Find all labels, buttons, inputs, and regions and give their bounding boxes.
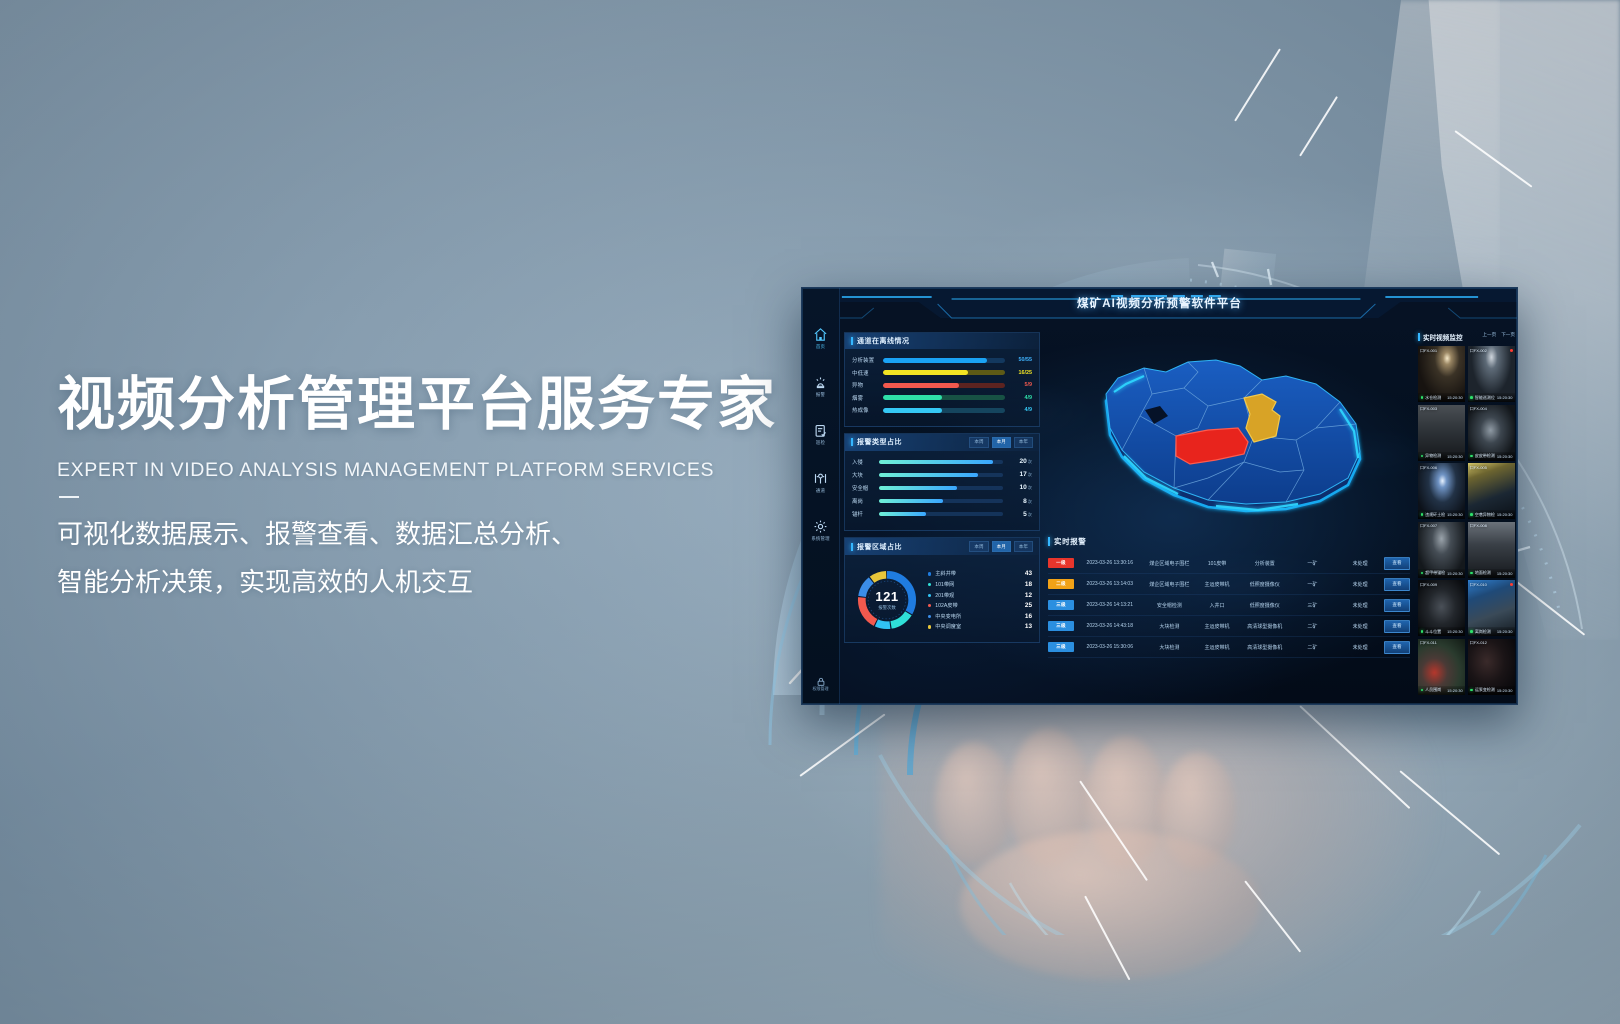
camera-id: 口FX-006 — [1420, 465, 1437, 471]
realtime-alarm-header: 实时报警 — [1048, 536, 1410, 547]
alarm-type-value: 20次 — [1008, 458, 1032, 465]
video-cell[interactable]: 口FX-006违规矸土检测15:20:30 — [1418, 463, 1465, 519]
channel-progress-track — [883, 408, 1005, 413]
channel-progress-fill — [883, 395, 942, 400]
camera-id: 口FX-008 — [1470, 523, 1487, 529]
alarm-type-track — [879, 499, 1003, 503]
camera-name: 运泵变检测 — [1475, 687, 1495, 693]
alarm-type-row: 锚杆5次 — [852, 510, 1032, 518]
channel-icon — [813, 471, 828, 486]
status-badge: 一级 — [1048, 558, 1074, 568]
alarm-type-track — [879, 486, 1003, 490]
sidebar-item-channel[interactable]: 通道 — [802, 458, 839, 506]
video-caption-bar: 斗斗位置15:20:30 — [1418, 627, 1465, 636]
camera-time: 15:20:30 — [1497, 512, 1513, 517]
camera-name: 人员围岗 — [1425, 687, 1445, 693]
camera-name: 智能巡测位置 — [1475, 395, 1495, 401]
hero-divider — [59, 496, 79, 498]
table-row: 三级2023-03-26 15:30:06大块检测主运皮带机高清球型摄像机二矿未… — [1048, 637, 1410, 658]
legend-color-dot — [928, 604, 931, 607]
alarm-area-period-tab[interactable]: 本月 — [992, 541, 1011, 552]
channel-status-row: 中低速16/25 — [852, 369, 1032, 377]
clipboard-check-icon — [813, 423, 828, 438]
alarm-area-period-tab[interactable]: 本年 — [1014, 541, 1033, 552]
alarm-type-value: 5次 — [1008, 511, 1032, 518]
channel-progress-fill — [883, 383, 959, 388]
channel-status-row: 异物5/9 — [852, 381, 1032, 389]
video-cell[interactable]: 口FX-008地面检测15:20:30 — [1468, 522, 1515, 578]
video-caption-bar: 智能巡测位置15:20:30 — [1468, 393, 1515, 402]
channel-value: 50/55 — [1010, 357, 1032, 363]
alarm-source: 大块检测 — [1146, 623, 1194, 630]
alarm-type-row: 大块17次 — [852, 471, 1032, 479]
alarm-status: 未处理 — [1336, 560, 1384, 567]
alarm-status: 未处理 — [1336, 581, 1384, 588]
home-icon — [813, 327, 828, 342]
realtime-alarm-title: 实时报警 — [1054, 536, 1086, 547]
dashboard-monitor: 煤矿AI视频分析预警软件平台 首页 报警 巡检 — [801, 287, 1518, 705]
camera-time: 15:20:30 — [1447, 395, 1463, 400]
view-button[interactable]: 查看 — [1384, 599, 1410, 612]
sidebar-label-channel: 通道 — [816, 488, 825, 494]
alarm-type-period-tab[interactable]: 本周 — [969, 437, 988, 448]
alarm-type-value: 10次 — [1008, 484, 1032, 491]
alarm-type-row: 入侵20次 — [852, 458, 1032, 466]
video-caption-bar: 超甲带锚检测15:20:30 — [1418, 569, 1465, 578]
video-cell[interactable]: 口FX-011人员围岗15:20:30 — [1418, 639, 1465, 695]
alarm-type-value: 8次 — [1008, 498, 1032, 505]
alarm-area-period-tabs: 本周本月本年 — [969, 541, 1033, 552]
online-status-icon — [1470, 572, 1473, 575]
video-caption-bar: 地面检测15:20:30 — [1468, 569, 1515, 578]
video-cell[interactable]: 口FX-004皮皮带检测15:20:30 — [1468, 405, 1515, 461]
online-status-icon — [1421, 396, 1424, 399]
status-badge: 三级 — [1048, 600, 1074, 610]
legend-label: 102A皮带 — [935, 602, 1021, 609]
video-cell[interactable]: 口FX-005空巷异物检测15:20:30 — [1468, 463, 1515, 519]
alarm-area-donut-chart: 121 报警次数 — [852, 565, 922, 635]
video-grid: 口FX-001水仓检测15:20:30口FX-002智能巡测位置15:20:30… — [1418, 346, 1515, 695]
channel-status-rows: 分析装置50/55中低速16/25异物5/9烟雾4/9热成像4/9 — [852, 356, 1032, 414]
dashboard-sidebar: 首页 报警 巡检 通道 — [802, 288, 840, 704]
dashboard-title: 煤矿AI视频分析预警软件平台 — [802, 295, 1517, 311]
panel-alarm-type: 报警类型占比 本周本月本年 入侵20次大块17次安全帽10次离岗8次锚杆5次 — [844, 433, 1040, 532]
alarm-type-fill — [879, 512, 926, 516]
alarm-mine: 三矿 — [1289, 602, 1337, 609]
legend-label: 主斜井带 — [935, 570, 1021, 577]
alarm-type-fill — [879, 499, 943, 503]
alarm-device: 高清球型摄像机 — [1241, 623, 1289, 630]
online-status-icon — [1421, 689, 1424, 692]
camera-id: 口FX-001 — [1420, 348, 1437, 354]
user-lock-icon — [816, 674, 826, 684]
panel-alarm-area: 报警区域占比 本周本月本年 121 报警次数 主斜井带43101带网18201带… — [844, 537, 1040, 643]
panel-accent-bar — [851, 438, 853, 446]
sidebar-item-system[interactable]: 系统管理 — [802, 506, 839, 554]
panel-alarm-area-header: 报警区域占比 本周本月本年 — [845, 538, 1039, 555]
alarm-type-period-tab[interactable]: 本年 — [1014, 437, 1033, 448]
realtime-alarm-panel: 实时报警 一级2023-03-26 13:30:16煤企区域电子围栏101皮带分… — [1048, 536, 1410, 696]
alarm-mine: 一矿 — [1289, 560, 1337, 567]
channel-name: 分析装置 — [852, 356, 878, 364]
alarm-device: 低照度摄像仪 — [1241, 602, 1289, 609]
video-wall-pagination: 上一页 下一页 — [1482, 332, 1515, 338]
legend-color-dot — [928, 572, 931, 575]
alarm-type-row: 离岗8次 — [852, 497, 1032, 505]
legend-value: 25 — [1025, 602, 1032, 609]
sidebar-item-inspection[interactable]: 巡检 — [802, 410, 839, 458]
alarm-status: 未处理 — [1336, 623, 1384, 630]
panel-accent-bar — [1048, 537, 1050, 546]
sidebar-label-inspection: 巡检 — [816, 440, 825, 446]
alarm-type-name: 离岗 — [852, 497, 874, 505]
dashboard-header: 煤矿AI视频分析预警软件平台 — [802, 288, 1517, 328]
hand-palm — [960, 830, 1260, 980]
hand-finger-1 — [935, 742, 1013, 864]
channel-value: 4/9 — [1010, 395, 1032, 401]
online-status-icon — [1421, 455, 1424, 458]
panel-channel-header: 通道在离线情况 — [845, 333, 1039, 349]
sidebar-label-alarm: 报警 — [816, 392, 825, 398]
video-cell[interactable]: 口FX-002智能巡测位置15:20:30 — [1468, 346, 1515, 402]
video-caption-bar: 异物检测15:20:30 — [1418, 452, 1465, 461]
donut-center-label: 121 报警次数 — [852, 565, 922, 635]
channel-progress-fill — [883, 370, 968, 375]
sidebar-footer[interactable]: 权限管理 — [802, 674, 839, 692]
alarm-type-track — [879, 460, 1003, 464]
view-button[interactable]: 查看 — [1384, 620, 1410, 633]
legend-color-dot — [928, 625, 931, 628]
hero-desc-line-1: 可视化数据展示、报警查看、数据汇总分析、 — [57, 510, 817, 558]
online-status-icon — [1470, 689, 1473, 692]
channel-progress-fill — [883, 358, 987, 363]
legend-row: 102A皮带25 — [928, 602, 1032, 609]
legend-value: 18 — [1025, 581, 1032, 588]
alarm-source: 大块检测 — [1146, 644, 1194, 651]
camera-name: 皮皮带检测 — [1475, 453, 1495, 459]
online-status-icon — [1421, 572, 1424, 575]
camera-time: 15:20:30 — [1497, 395, 1513, 400]
video-caption-bar: 水仓检测15:20:30 — [1418, 393, 1465, 402]
video-wall-header: 实时视频监控 上一页 下一页 — [1418, 332, 1515, 342]
view-button[interactable]: 查看 — [1384, 641, 1410, 654]
camera-id: 口FX-012 — [1470, 640, 1487, 646]
alarm-device: 分析装置 — [1241, 560, 1289, 567]
sidebar-label-home: 首页 — [816, 344, 825, 350]
sidebar-footer-label: 权限管理 — [813, 686, 829, 692]
legend-row: 主斜井带43 — [928, 570, 1032, 577]
donut-center-value: 121 — [875, 589, 898, 604]
alarm-type-fill — [879, 486, 957, 490]
status-badge: 二级 — [1048, 579, 1074, 589]
legend-row: 中央变电所16 — [928, 613, 1032, 620]
alarm-type-period-tabs: 本周本月本年 — [969, 437, 1033, 448]
alarm-type-name: 锚杆 — [852, 510, 874, 518]
camera-name: 异物检测 — [1425, 453, 1445, 459]
alarm-type-name: 安全帽 — [852, 484, 874, 492]
status-badge: 三级 — [1048, 621, 1074, 631]
channel-name: 中低速 — [852, 369, 878, 377]
video-cell[interactable]: 口FX-007超甲带锚检测15:20:30 — [1418, 522, 1465, 578]
table-row: 三级2023-03-26 14:13:21安全帽检测入井口低照度摄像仪三矿未处理… — [1048, 595, 1410, 616]
channel-name: 热成像 — [852, 406, 878, 414]
legend-label: 中央调度室 — [935, 623, 1021, 630]
alarm-mine: 一矿 — [1289, 581, 1337, 588]
alarm-device: 低照度摄像仪 — [1241, 581, 1289, 588]
camera-name: 空巷异物检测 — [1475, 512, 1495, 518]
camera-time: 15:20:30 — [1447, 688, 1463, 693]
legend-label: 中央变电所 — [935, 613, 1021, 620]
alarm-time: 2023-03-26 13:14:03 — [1074, 581, 1146, 587]
hero-subtitle-en: EXPERT IN VIDEO ANALYSIS MANAGEMENT PLAT… — [57, 459, 817, 482]
camera-time: 15:20:30 — [1497, 688, 1513, 693]
page-title: 视频分析管理平台服务专家 — [57, 372, 817, 439]
alarm-mine: 二矿 — [1289, 623, 1337, 630]
sidebar-label-system: 系统管理 — [811, 536, 829, 542]
alarm-light-icon — [813, 375, 828, 390]
channel-progress-track — [883, 370, 1005, 375]
channel-name: 异物 — [852, 381, 878, 389]
alarm-type-fill — [879, 473, 978, 477]
channel-value: 5/9 — [1010, 382, 1032, 388]
view-button[interactable]: 查看 — [1384, 557, 1410, 570]
video-wall-title: 实时视频监控 — [1423, 332, 1463, 342]
camera-time: 15:20:30 — [1497, 454, 1513, 459]
channel-status-row: 分析装置50/55 — [852, 356, 1032, 364]
channel-status-row: 热成像4/9 — [852, 406, 1032, 414]
dashboard-left-column: 通道在离线情况 分析装置50/55中低速16/25异物5/9烟雾4/9热成像4/… — [844, 332, 1040, 649]
channel-name: 烟雾 — [852, 394, 878, 402]
camera-name: 斗斗位置 — [1425, 629, 1445, 635]
camera-id: 口FX-003 — [1420, 406, 1437, 412]
hero-copy: 视频分析管理平台服务专家 EXPERT IN VIDEO ANALYSIS MA… — [57, 372, 817, 606]
panel-channel-title: 通道在离线情况 — [857, 336, 910, 346]
alarm-status: 未处理 — [1336, 602, 1384, 609]
alarm-type-value: 17次 — [1008, 471, 1032, 478]
alarm-type-row: 安全帽10次 — [852, 484, 1032, 492]
camera-time: 15:20:30 — [1447, 512, 1463, 517]
province-map[interactable] — [1048, 332, 1410, 532]
legend-row: 201带观12 — [928, 592, 1032, 599]
alarm-time: 2023-03-26 15:30:06 — [1074, 644, 1146, 650]
video-caption-bar: 违规矸土检测15:20:30 — [1418, 510, 1465, 519]
online-status-icon — [1470, 513, 1473, 516]
alarm-type-name: 入侵 — [852, 458, 874, 466]
camera-time: 15:20:30 — [1497, 629, 1513, 634]
alarm-source: 煤企区域电子围栏 — [1146, 560, 1194, 567]
video-wall-panel: 实时视频监控 上一页 下一页 口FX-001水仓检测15:20:30口FX-00… — [1418, 332, 1515, 696]
channel-progress-fill — [883, 408, 942, 413]
alarm-type-track — [879, 473, 1003, 477]
camera-time: 15:20:30 — [1497, 571, 1513, 576]
camera-name: 超甲带锚检测 — [1425, 570, 1445, 576]
dashboard-screen: 煤矿AI视频分析预警软件平台 首页 报警 巡检 — [802, 288, 1517, 704]
table-row: 一级2023-03-26 13:30:16煤企区域电子围栏101皮带分析装置一矿… — [1048, 553, 1410, 574]
channel-status-row: 烟雾4/9 — [852, 394, 1032, 402]
alarm-area-period-tab[interactable]: 本周 — [969, 541, 988, 552]
view-button[interactable]: 查看 — [1384, 578, 1410, 591]
legend-color-dot — [928, 615, 931, 618]
legend-color-dot — [928, 594, 931, 597]
panel-alarm-type-header: 报警类型占比 本周本月本年 — [845, 434, 1039, 451]
camera-time: 15:20:30 — [1447, 571, 1463, 576]
video-cell[interactable]: 口FX-012运泵变检测15:20:30 — [1468, 639, 1515, 695]
alarm-location: 主运皮带机 — [1193, 623, 1241, 630]
panel-channel-status: 通道在离线情况 分析装置50/55中低速16/25异物5/9烟雾4/9热成像4/… — [844, 332, 1040, 427]
channel-progress-track — [883, 358, 1005, 363]
prev-page-button[interactable]: 上一页 — [1482, 332, 1496, 338]
alarm-mine: 二矿 — [1289, 644, 1337, 651]
sidebar-item-alarm[interactable]: 报警 — [802, 362, 839, 410]
alarm-time: 2023-03-26 13:30:16 — [1074, 560, 1146, 566]
video-cell[interactable]: 口FX-001水仓检测15:20:30 — [1418, 346, 1465, 402]
video-caption-bar: 人员围岗15:20:30 — [1418, 686, 1465, 695]
panel-alarm-area-title: 报警区域占比 — [857, 542, 902, 552]
alarm-area-legend: 主斜井带43101带网18201带观12102A皮带25中央变电所16中央调度室… — [928, 567, 1032, 634]
legend-row: 中央调度室13 — [928, 623, 1032, 630]
hero-desc-line-2: 智能分析决策，实现高效的人机交互 — [57, 558, 817, 606]
camera-time: 15:20:30 — [1447, 629, 1463, 634]
camera-name: 违规矸土检测 — [1425, 512, 1445, 518]
legend-label: 201带观 — [935, 592, 1021, 599]
alarm-type-name: 大块 — [852, 471, 874, 479]
alarm-location: 101皮带 — [1193, 560, 1241, 567]
next-page-button[interactable]: 下一页 — [1501, 332, 1515, 338]
table-row: 二级2023-03-26 13:14:03煤企区域电子围栏主运皮带机低照度摄像仪… — [1048, 574, 1410, 595]
online-status-icon — [1421, 630, 1424, 633]
channel-progress-track — [883, 395, 1005, 400]
panel-accent-bar — [851, 543, 853, 551]
camera-name: 离岗检测 — [1475, 629, 1495, 635]
panel-alarm-type-title: 报警类型占比 — [857, 437, 902, 447]
alarm-source: 安全帽检测 — [1146, 602, 1194, 609]
alarm-device: 高清球型摄像机 — [1241, 644, 1289, 651]
video-caption-bar: 皮皮带检测15:20:30 — [1468, 452, 1515, 461]
alarm-location: 主运皮带机 — [1193, 581, 1241, 588]
online-status-icon — [1421, 513, 1424, 516]
channel-value: 4/9 — [1010, 407, 1032, 413]
channel-progress-track — [883, 383, 1005, 388]
camera-id: 口FX-005 — [1470, 465, 1487, 471]
legend-value: 12 — [1025, 592, 1032, 599]
alarm-status: 未处理 — [1336, 644, 1384, 651]
online-status-icon — [1470, 396, 1473, 399]
camera-name: 水仓检测 — [1425, 395, 1445, 401]
alarm-type-fill — [879, 460, 993, 464]
camera-id: 口FX-009 — [1420, 582, 1437, 588]
legend-value: 13 — [1025, 623, 1032, 630]
video-caption-bar: 离岗检测15:20:30 — [1468, 627, 1515, 636]
video-cell[interactable]: 口FX-010离岗检测15:20:30 — [1468, 580, 1515, 636]
panel-accent-bar — [851, 337, 853, 345]
alarm-type-period-tab[interactable]: 本月 — [992, 437, 1011, 448]
alarm-area-chart-wrap: 121 报警次数 主斜井带43101带网18201带观12102A皮带25中央变… — [852, 562, 1032, 635]
gear-icon — [813, 519, 828, 534]
recording-indicator-icon — [1510, 349, 1513, 352]
alarm-time: 2023-03-26 14:13:21 — [1074, 602, 1146, 608]
camera-id: 口FX-002 — [1470, 348, 1487, 354]
sidebar-item-home[interactable]: 首页 — [802, 314, 839, 362]
channel-value: 16/25 — [1010, 370, 1032, 376]
video-cell[interactable]: 口FX-003异物检测15:20:30 — [1418, 405, 1465, 461]
alarm-type-track — [879, 512, 1003, 516]
alarm-location: 入井口 — [1193, 602, 1241, 609]
donut-center-caption: 报警次数 — [878, 605, 896, 611]
camera-id: 口FX-010 — [1470, 582, 1487, 588]
legend-row: 101带网18 — [928, 581, 1032, 588]
camera-id: 口FX-007 — [1420, 523, 1437, 529]
camera-id: 口FX-004 — [1470, 406, 1487, 412]
camera-id: 口FX-011 — [1420, 640, 1437, 646]
status-badge: 三级 — [1048, 642, 1074, 652]
camera-name: 地面检测 — [1475, 570, 1495, 576]
legend-label: 101带网 — [935, 581, 1021, 588]
camera-time: 15:20:30 — [1447, 454, 1463, 459]
online-status-icon — [1470, 455, 1473, 458]
panel-accent-bar — [1418, 333, 1420, 341]
legend-value: 16 — [1025, 613, 1032, 620]
alarm-type-rows: 入侵20次大块17次安全帽10次离岗8次锚杆5次 — [852, 458, 1032, 519]
legend-value: 43 — [1025, 570, 1032, 577]
video-cell[interactable]: 口FX-009斗斗位置15:20:30 — [1418, 580, 1465, 636]
alarm-source: 煤企区域电子围栏 — [1146, 581, 1194, 588]
legend-color-dot — [928, 583, 931, 586]
table-row: 三级2023-03-26 14:43:18大块检测主运皮带机高清球型摄像机二矿未… — [1048, 616, 1410, 637]
alarm-time: 2023-03-26 14:43:18 — [1074, 623, 1146, 629]
alarm-location: 主运皮带机 — [1193, 644, 1241, 651]
video-caption-bar: 空巷异物检测15:20:30 — [1468, 510, 1515, 519]
recording-indicator-icon — [1510, 583, 1513, 586]
alarm-table-body: 一级2023-03-26 13:30:16煤企区域电子围栏101皮带分析装置一矿… — [1048, 553, 1410, 658]
video-caption-bar: 运泵变检测15:20:30 — [1468, 686, 1515, 695]
online-status-icon — [1470, 630, 1473, 633]
